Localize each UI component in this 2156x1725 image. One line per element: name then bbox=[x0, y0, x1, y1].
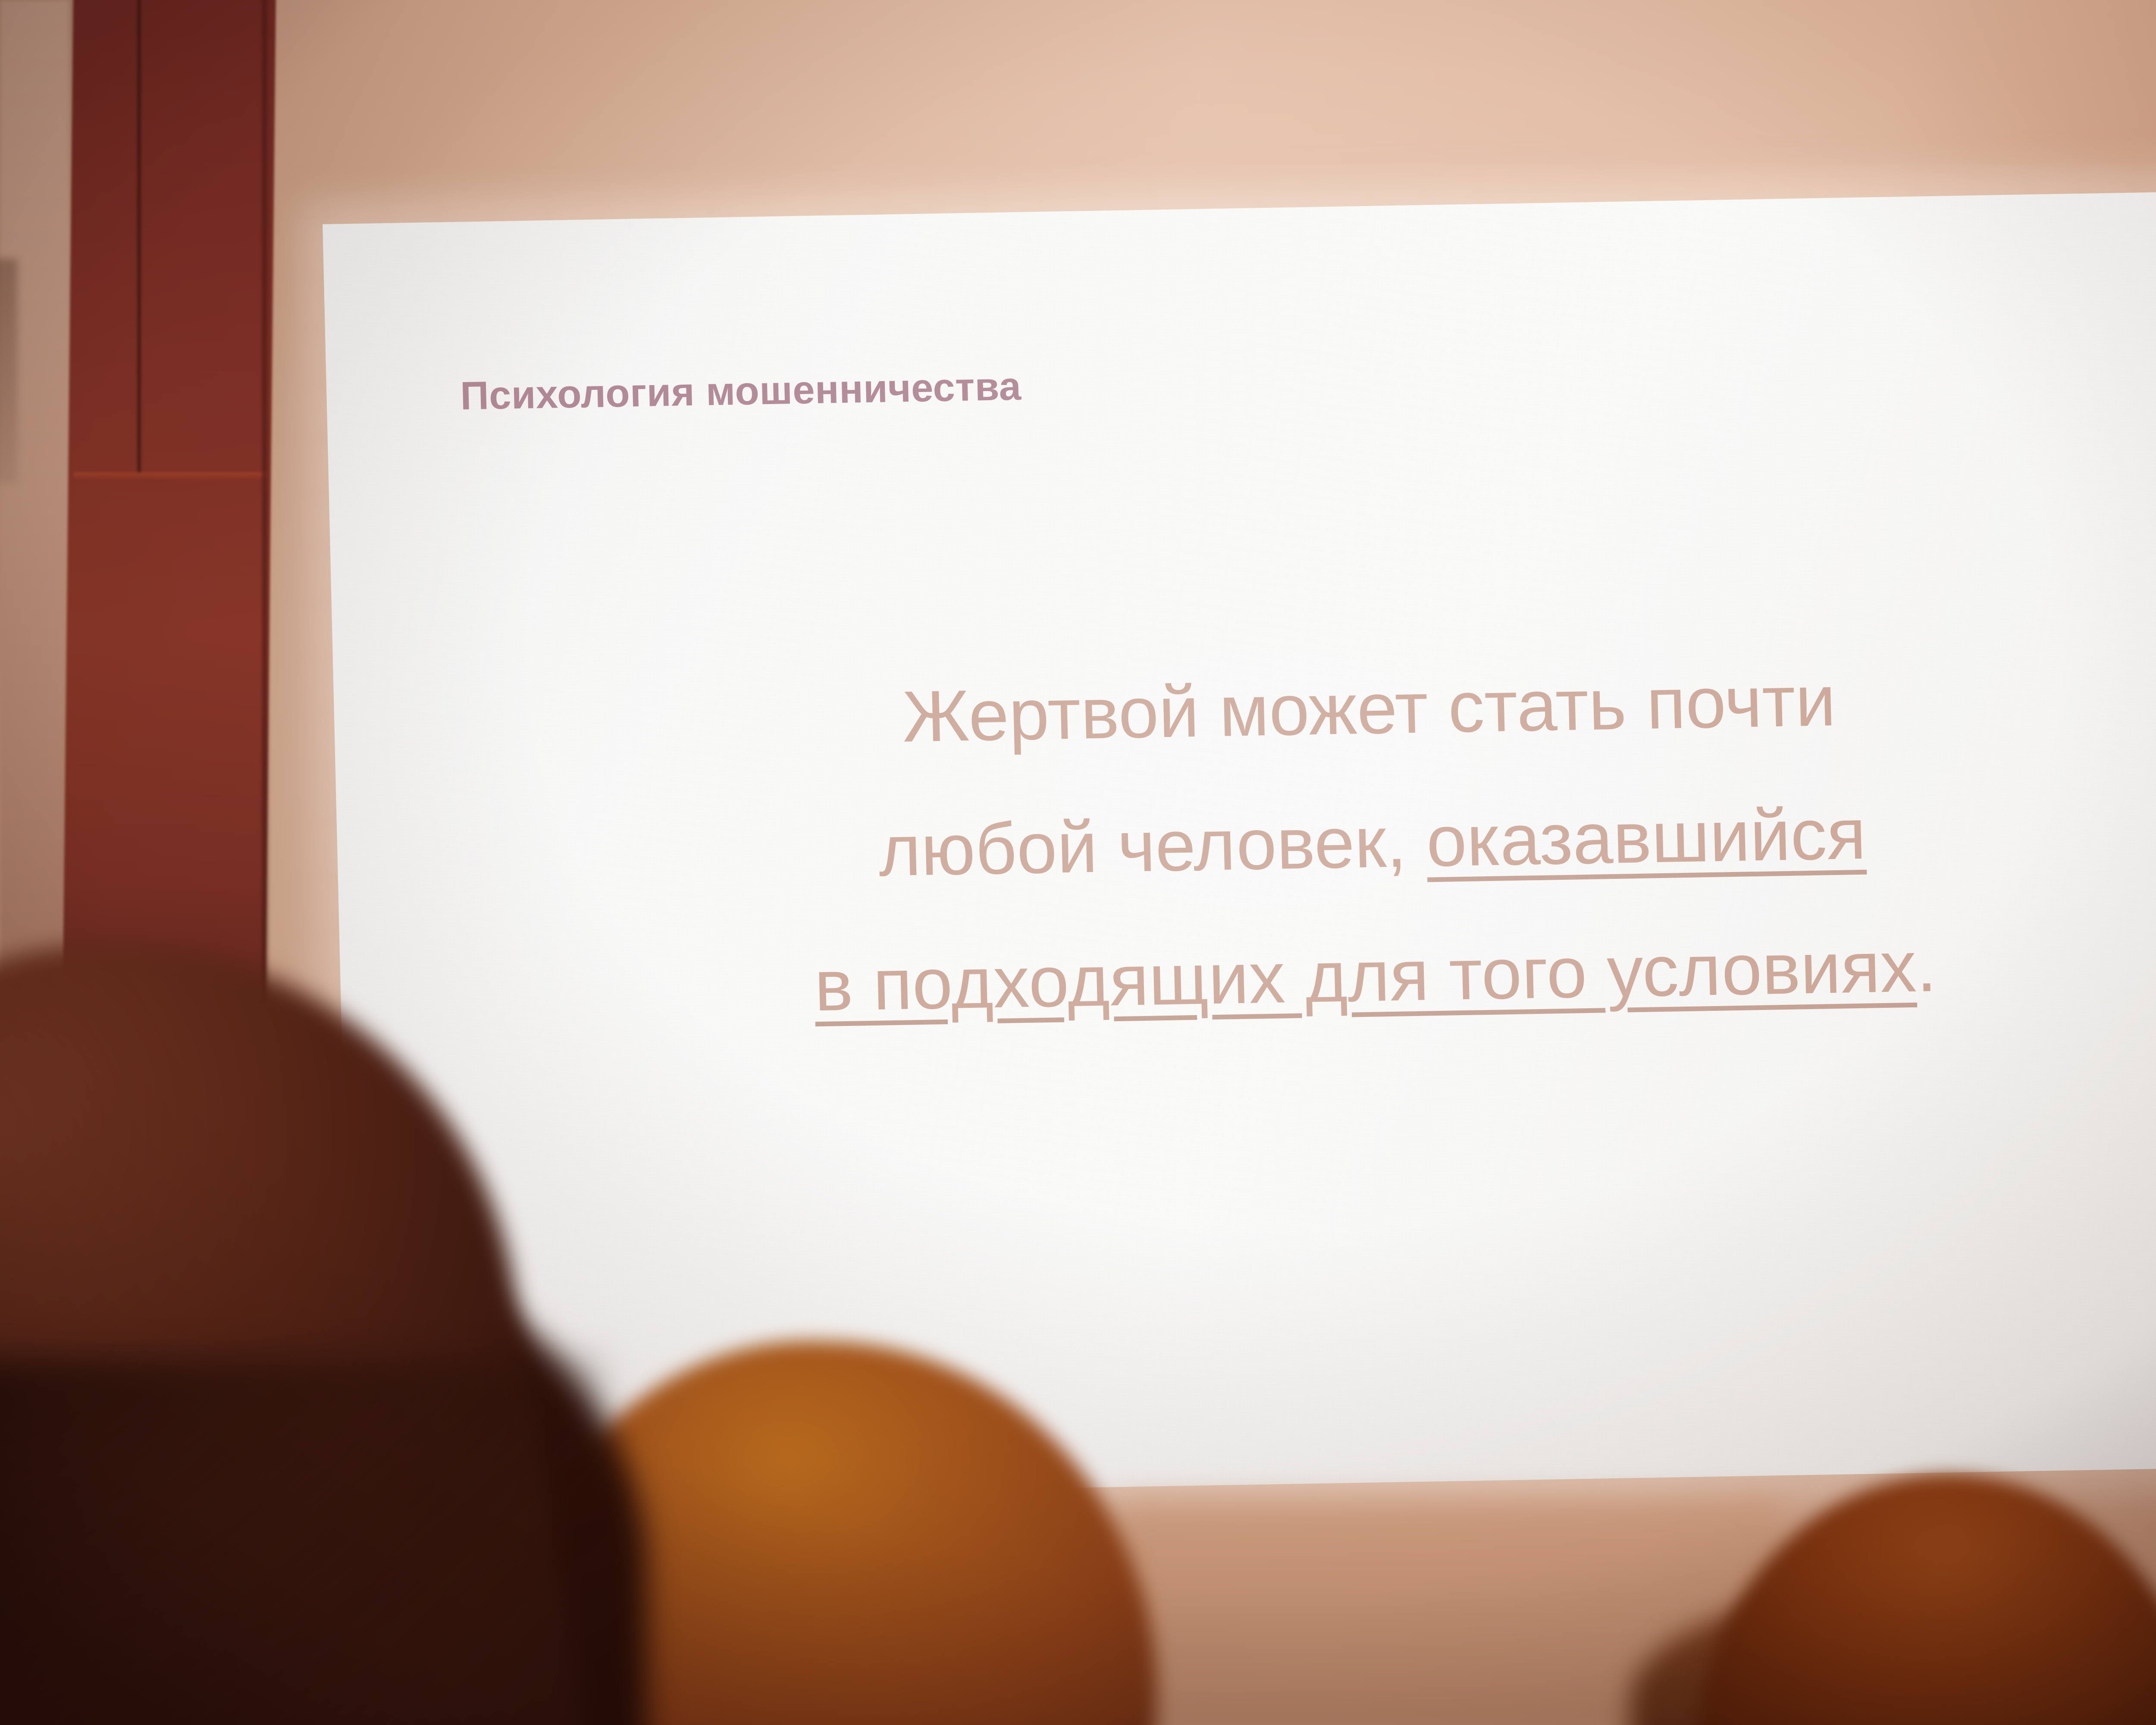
slide-line-1-text: Жертвой может стать почти bbox=[902, 660, 1837, 757]
slide-line-3-suffix: . bbox=[1915, 925, 1937, 1007]
left-door-rail bbox=[73, 472, 267, 479]
far-left-wall-strip bbox=[0, 0, 69, 1078]
projection-screen: Психология мошенничества Жертвой может с… bbox=[323, 188, 2156, 1500]
slide-line-2-underlined: оказавшийся bbox=[1426, 793, 1867, 882]
left-wooden-door bbox=[60, 0, 276, 1233]
slide-line-2-prefix: любой человек, bbox=[877, 801, 1427, 891]
presentation-slide: Психология мошенничества Жертвой может с… bbox=[323, 188, 2156, 1500]
slide-eyebrow-title: Психология мошенничества bbox=[460, 364, 1022, 419]
wall-picture-frame bbox=[0, 259, 17, 483]
photo-scene: Психология мошенничества Жертвой может с… bbox=[0, 0, 2156, 1725]
left-door-edge bbox=[263, 0, 269, 1233]
slide-line-3-underlined: в подходящих для того условиях bbox=[814, 926, 1918, 1026]
left-door-stile bbox=[137, 0, 141, 474]
slide-body-text: Жертвой может стать почти любой человек,… bbox=[333, 624, 2156, 1061]
